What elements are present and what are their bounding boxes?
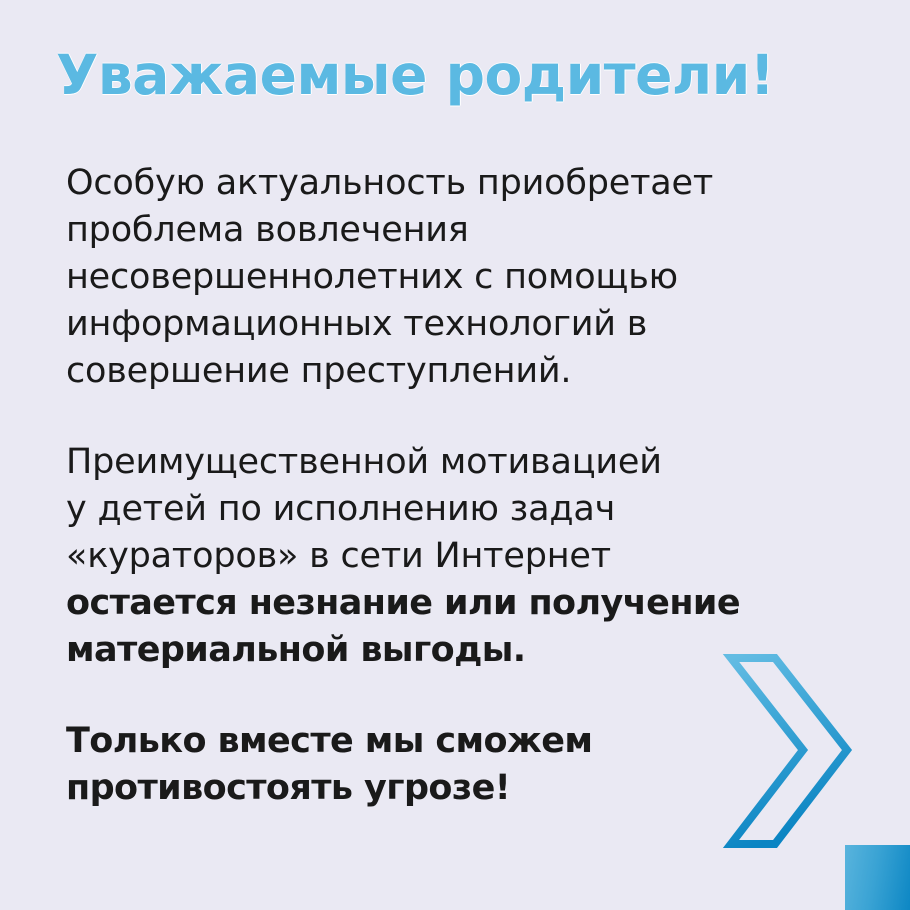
poster-canvas: Уважаемые родители! Особую актуальность … xyxy=(0,0,910,910)
page-title: Уважаемые родители! xyxy=(56,44,856,106)
paragraph-line-emphasis: материальной выгоды. xyxy=(66,627,866,674)
paragraph-line: несовершеннолетних с помощью xyxy=(66,254,866,301)
body-copy: Особую актуальность приобретает проблема… xyxy=(66,160,866,812)
corner-accent-block xyxy=(845,845,910,910)
paragraph-line-emphasis: остается незнание или получение xyxy=(66,580,866,627)
paragraph-intro: Особую актуальность приобретает проблема… xyxy=(66,160,866,395)
paragraph-call-to-action: Только вместе мы сможем противостоять уг… xyxy=(66,718,866,812)
paragraph-line-emphasis: противостоять угрозе! xyxy=(66,765,866,812)
paragraph-line: проблема вовлечения xyxy=(66,207,866,254)
paragraph-motivation: Преимущественной мотивацией у детей по и… xyxy=(66,439,866,674)
paragraph-line: Особую актуальность приобретает xyxy=(66,160,866,207)
paragraph-line: у детей по исполнению задач xyxy=(66,486,866,533)
paragraph-line: Преимущественной мотивацией xyxy=(66,439,866,486)
paragraph-line-emphasis: Только вместе мы сможем xyxy=(66,718,866,765)
paragraph-line: совершение преступлений. xyxy=(66,348,866,395)
paragraph-line: информационных технологий в xyxy=(66,301,866,348)
paragraph-line: «кураторов» в сети Интернет xyxy=(66,533,866,580)
